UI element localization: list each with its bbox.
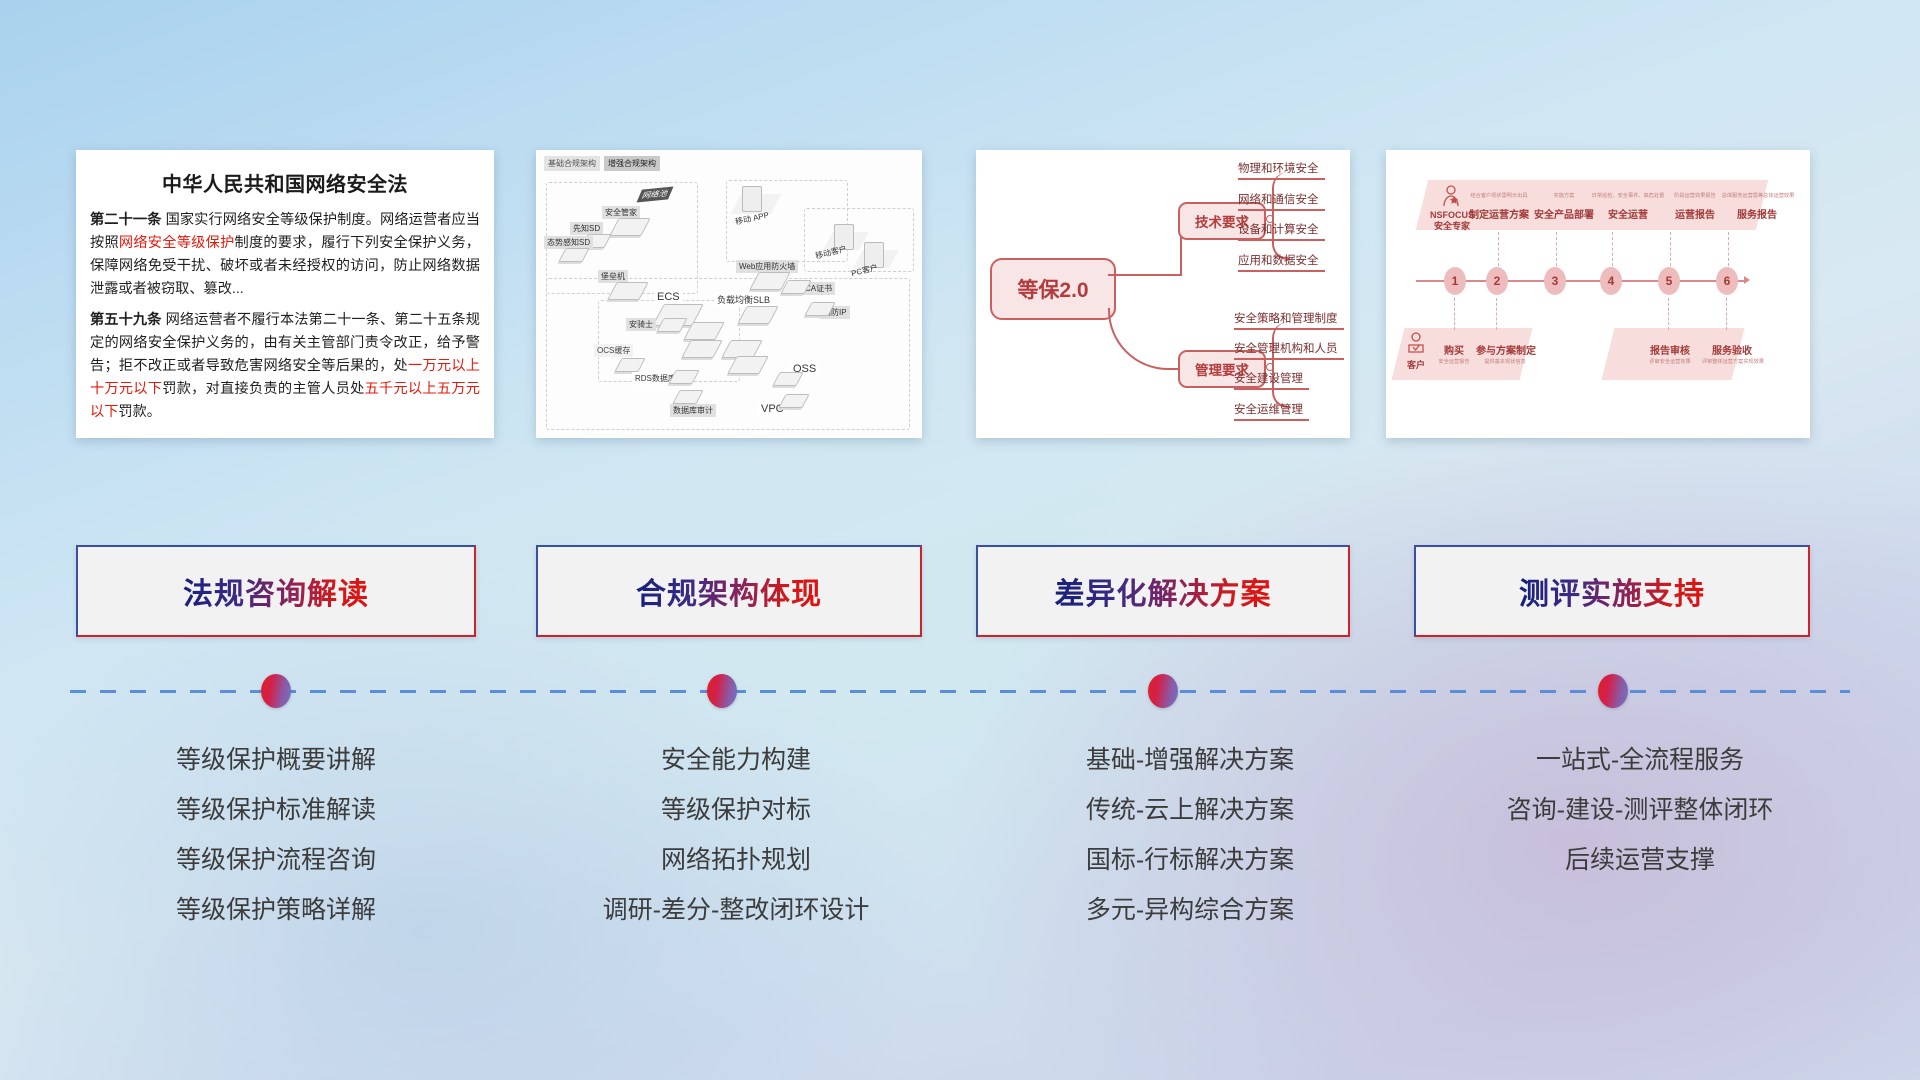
mindmap-fan-management bbox=[1272, 322, 1290, 408]
article-21-label: 第二十一条 bbox=[90, 212, 162, 228]
step-marker-4: 4 bbox=[1600, 267, 1622, 295]
node-label-db-audit: 数据库审计 bbox=[670, 404, 716, 417]
slide-canvas: 中华人民共和国网络安全法 第二十一条 国家实行网络安全等级保护制度。网络运营者应… bbox=[0, 0, 1920, 1080]
list-item: 等级保护策略详解 bbox=[76, 885, 476, 935]
card-cloud-architecture[interactable]: 基础合规架构 增强合规架构 网络池 安全管家 先知SD 态势感知SD 堡垒机 bbox=[536, 150, 922, 438]
law-article-21: 第二十一条 国家实行网络安全等级保护制度。网络运营者应当按照网络安全等级保护制度… bbox=[90, 209, 480, 301]
mindmap-leaf-tech-2: 网络和通信安全 bbox=[1238, 191, 1319, 207]
section-title-4-label: 测评实施支持 bbox=[1519, 569, 1705, 613]
mindmap-leaf-mgmt-2: 安全管理机构和人员 bbox=[1234, 340, 1338, 356]
node-label-ecs: ECS bbox=[654, 290, 683, 304]
card-service-flow[interactable]: NSFOCUS安全专家 客户 1 2 3 4 5 6 bbox=[1386, 150, 1810, 438]
section-details-1: 等级保护概要讲解 等级保护标准解读 等级保护流程咨询 等级保护策略详解 bbox=[76, 735, 476, 935]
list-item: 等级保护标准解读 bbox=[76, 785, 476, 835]
preview-cards-row: 中华人民共和国网络安全法 第二十一条 国家实行网络安全等级保护制度。网络运营者应… bbox=[0, 0, 1920, 450]
node-label-slb: 负载均衡SLB bbox=[714, 292, 773, 307]
mindmap-leaf-mgmt-1: 安全策略和管理制度 bbox=[1234, 310, 1338, 326]
mindmap-diagram: 等保2.0 技术要求 物理和环境安全 网络和通信安全 设备和计算安全 应用和数据… bbox=[976, 150, 1350, 438]
step-marker-5: 5 bbox=[1658, 267, 1680, 295]
law-article-59: 第五十九条 网络运营者不履行本法第二十一条、第二十五条规定的网络安全保护义务的，… bbox=[90, 309, 480, 424]
section-title-1-label: 法规咨询解读 bbox=[183, 569, 369, 613]
timeline-dot-3 bbox=[1148, 674, 1178, 708]
list-item: 网络拓扑规划 bbox=[536, 835, 936, 885]
node-icon-mobile-app bbox=[742, 186, 762, 212]
section-titles-row: 法规咨询解读 合规架构体现 差异化解决方案 测评实施支持 bbox=[0, 545, 1920, 640]
top-item-4-title: 运营报告 bbox=[1660, 206, 1730, 221]
list-item: 咨询-建设-测评整体闭环 bbox=[1430, 785, 1850, 835]
section-details-row: 等级保护概要讲解 等级保护标准解读 等级保护流程咨询 等级保护策略详解 安全能力… bbox=[0, 735, 1920, 985]
law-title: 中华人民共和国网络安全法 bbox=[90, 168, 480, 197]
timeline-dot-2 bbox=[707, 674, 737, 708]
top-item-2-title: 安全产品部署 bbox=[1532, 206, 1596, 221]
mindmap-fan-technical bbox=[1272, 172, 1290, 260]
step-marker-3: 3 bbox=[1544, 267, 1566, 295]
timeline-dot-4 bbox=[1598, 674, 1628, 708]
section-title-box-3[interactable]: 差异化解决方案 bbox=[976, 545, 1350, 637]
top-item-5-sub: 总体服务运营需等总体运营效果 bbox=[1716, 192, 1800, 199]
top-item-1-sub: 结合客户现状需明示出具 bbox=[1462, 192, 1536, 199]
mindmap-connector-tech bbox=[1108, 222, 1182, 276]
bottom-item-3-title: 报告审核 bbox=[1642, 342, 1698, 357]
lead-line-3 bbox=[1556, 232, 1558, 266]
step-marker-6: 6 bbox=[1716, 267, 1738, 295]
bottom-item-3-sub: 评审安全运营效果 bbox=[1638, 358, 1702, 365]
step-marker-2: 2 bbox=[1486, 267, 1508, 295]
node-label-ocs-cache: OCS缓存 bbox=[594, 344, 633, 357]
list-item: 调研-差分-整改闭环设计 bbox=[536, 885, 936, 935]
step-marker-1: 1 bbox=[1444, 267, 1466, 295]
article-59-label: 第五十九条 bbox=[90, 312, 162, 328]
architecture-diagram: 基础合规架构 增强合规架构 网络池 安全管家 先知SD 态势感知SD 堡垒机 bbox=[536, 150, 922, 438]
timeline-dashed-line bbox=[70, 690, 1850, 693]
section-title-box-4[interactable]: 测评实施支持 bbox=[1414, 545, 1810, 637]
article-21-highlight: 网络安全等级保护 bbox=[119, 235, 235, 251]
lead-line-6 bbox=[1728, 232, 1730, 266]
lead-line-5b bbox=[1668, 298, 1670, 330]
list-item: 安全能力构建 bbox=[536, 735, 936, 785]
lead-line-2b bbox=[1496, 298, 1498, 330]
section-title-box-2[interactable]: 合规架构体现 bbox=[536, 545, 922, 637]
lead-line-2 bbox=[1498, 232, 1500, 266]
card-mindmap-dengbao[interactable]: 等保2.0 技术要求 物理和环境安全 网络和通信安全 设备和计算安全 应用和数据… bbox=[976, 150, 1350, 438]
timeline-arrow-icon bbox=[1744, 276, 1750, 284]
list-item: 等级保护流程咨询 bbox=[76, 835, 476, 885]
mindmap-leaf-mgmt-3: 安全建设管理 bbox=[1234, 370, 1303, 386]
list-item: 等级保护概要讲解 bbox=[76, 735, 476, 785]
top-item-1-title: 制定运营方案 bbox=[1462, 206, 1536, 221]
top-item-3-title: 安全运营 bbox=[1596, 206, 1660, 221]
lead-line-5 bbox=[1670, 232, 1672, 266]
bottom-item-4-title: 服务验收 bbox=[1704, 342, 1760, 357]
list-item: 国标-行标解决方案 bbox=[990, 835, 1390, 885]
section-title-3-label: 差异化解决方案 bbox=[1055, 569, 1272, 613]
list-item: 后续运营支撑 bbox=[1430, 835, 1850, 885]
service-flow-diagram: NSFOCUS安全专家 客户 1 2 3 4 5 6 bbox=[1386, 150, 1810, 438]
mindmap-leaf-mgmt-4: 安全运维管理 bbox=[1234, 401, 1303, 417]
list-item: 传统-云上解决方案 bbox=[990, 785, 1390, 835]
section-details-4: 一站式-全流程服务 咨询-建设-测评整体闭环 后续运营支撑 bbox=[1430, 735, 1850, 885]
section-title-2-label: 合规架构体现 bbox=[636, 569, 822, 613]
bottom-item-4-sub: 评审整体运营方案实现效果 bbox=[1694, 358, 1772, 365]
lead-line-4 bbox=[1612, 232, 1614, 266]
section-details-2: 安全能力构建 等级保护对标 网络拓扑规划 调研-差分-整改闭环设计 bbox=[536, 735, 936, 935]
bottom-item-2-title: 参与方案制定 bbox=[1476, 342, 1534, 357]
bottom-item-1-title: 购买 bbox=[1434, 342, 1474, 357]
bottom-item-2-sub: 提供基本现状信息 bbox=[1476, 358, 1534, 365]
list-item: 一站式-全流程服务 bbox=[1430, 735, 1850, 785]
section-details-3: 基础-增强解决方案 传统-云上解决方案 国标-行标解决方案 多元-异构综合方案 bbox=[990, 735, 1390, 935]
list-item: 基础-增强解决方案 bbox=[990, 735, 1390, 785]
tab-basic-architecture[interactable]: 基础合规架构 bbox=[544, 156, 600, 171]
architecture-tabs[interactable]: 基础合规架构 增强合规架构 bbox=[544, 156, 660, 171]
law-document: 中华人民共和国网络安全法 第二十一条 国家实行网络安全等级保护制度。网络运营者应… bbox=[76, 150, 494, 438]
mindmap-leaf-tech-1: 物理和环境安全 bbox=[1238, 160, 1319, 176]
node-label-anqishi: 安骑士 bbox=[626, 318, 656, 331]
top-item-5-title: 服务报告 bbox=[1722, 206, 1792, 221]
mindmap-leaf-tech-4: 应用和数据安全 bbox=[1238, 252, 1319, 268]
bottom-item-1-sub: 安全运营报告 bbox=[1430, 358, 1478, 365]
customer-role-label: 客户 bbox=[1402, 358, 1430, 371]
mindmap-connector-mgmt bbox=[1108, 308, 1182, 370]
mindmap-leaf-tech-3: 设备和计算安全 bbox=[1238, 221, 1319, 237]
card-cybersecurity-law[interactable]: 中华人民共和国网络安全法 第二十一条 国家实行网络安全等级保护制度。网络运营者应… bbox=[76, 150, 494, 438]
list-item: 多元-异构综合方案 bbox=[990, 885, 1390, 935]
article-59-text-c: 罚款。 bbox=[118, 404, 161, 420]
lead-line-1 bbox=[1454, 298, 1456, 330]
section-title-box-1[interactable]: 法规咨询解读 bbox=[76, 545, 476, 637]
expert-person-icon bbox=[1440, 184, 1462, 208]
mindmap-root-node: 等保2.0 bbox=[990, 258, 1116, 320]
list-item: 等级保护对标 bbox=[536, 785, 936, 835]
tab-enhanced-architecture[interactable]: 增强合规架构 bbox=[604, 156, 660, 171]
customer-person-icon bbox=[1406, 332, 1426, 354]
lead-line-6b bbox=[1726, 298, 1728, 330]
article-59-text-b: 罚款，对直接负责的主管人员处 bbox=[162, 381, 364, 397]
timeline-dot-1 bbox=[261, 674, 291, 708]
